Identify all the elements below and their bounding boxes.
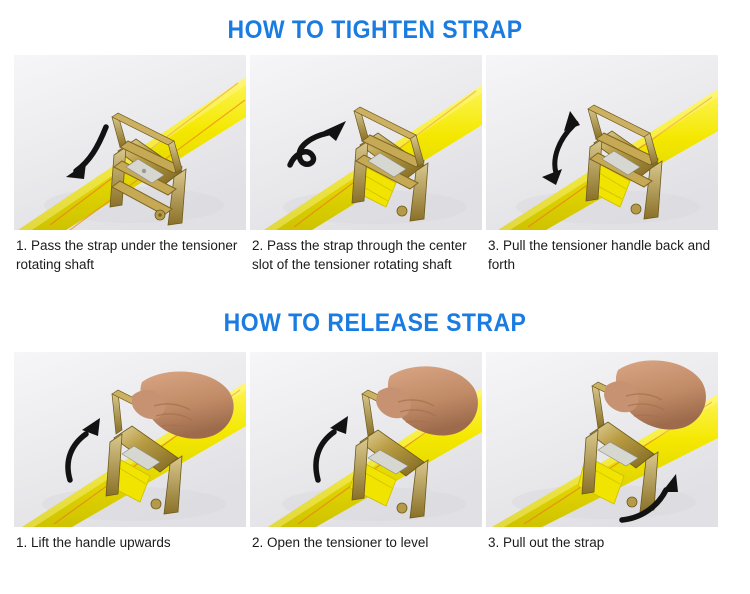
step-panel-release-1: 1. Lift the handle upwards [14, 352, 246, 553]
caption-tighten-3: 3. Pull the tensioner handle back and fo… [486, 230, 718, 274]
caption-release-1: 1. Lift the handle upwards [14, 527, 246, 553]
caption-release-2: 2. Open the tensioner to level [250, 527, 482, 553]
step-panel-tighten-3: 3. Pull the tensioner handle back and fo… [486, 55, 718, 274]
photo-tighten-3 [486, 55, 718, 230]
caption-release-3: 3. Pull out the strap [486, 527, 718, 553]
step-panel-tighten-2: 2. Pass the strap through the center slo… [250, 55, 482, 274]
caption-tighten-2: 2. Pass the strap through the center slo… [250, 230, 482, 274]
caption-tighten-1: 1. Pass the strap under the tensioner ro… [14, 230, 246, 274]
step-panel-release-3: 3. Pull out the strap [486, 352, 718, 553]
release-steps-row: 1. Lift the handle upwards [0, 352, 750, 553]
heading-how-to-tighten-strap: HOW TO TIGHTEN STRAP [30, 18, 720, 43]
heading-how-to-release-strap: HOW TO RELEASE STRAP [30, 311, 720, 336]
photo-release-1 [14, 352, 246, 527]
photo-release-2 [250, 352, 482, 527]
tighten-steps-row: 1. Pass the strap under the tensioner ro… [0, 55, 750, 274]
photo-tighten-2 [250, 55, 482, 230]
step-panel-release-2: 2. Open the tensioner to level [250, 352, 482, 553]
step-panel-tighten-1: 1. Pass the strap under the tensioner ro… [14, 55, 246, 274]
photo-tighten-1 [14, 55, 246, 230]
photo-release-3 [486, 352, 718, 527]
